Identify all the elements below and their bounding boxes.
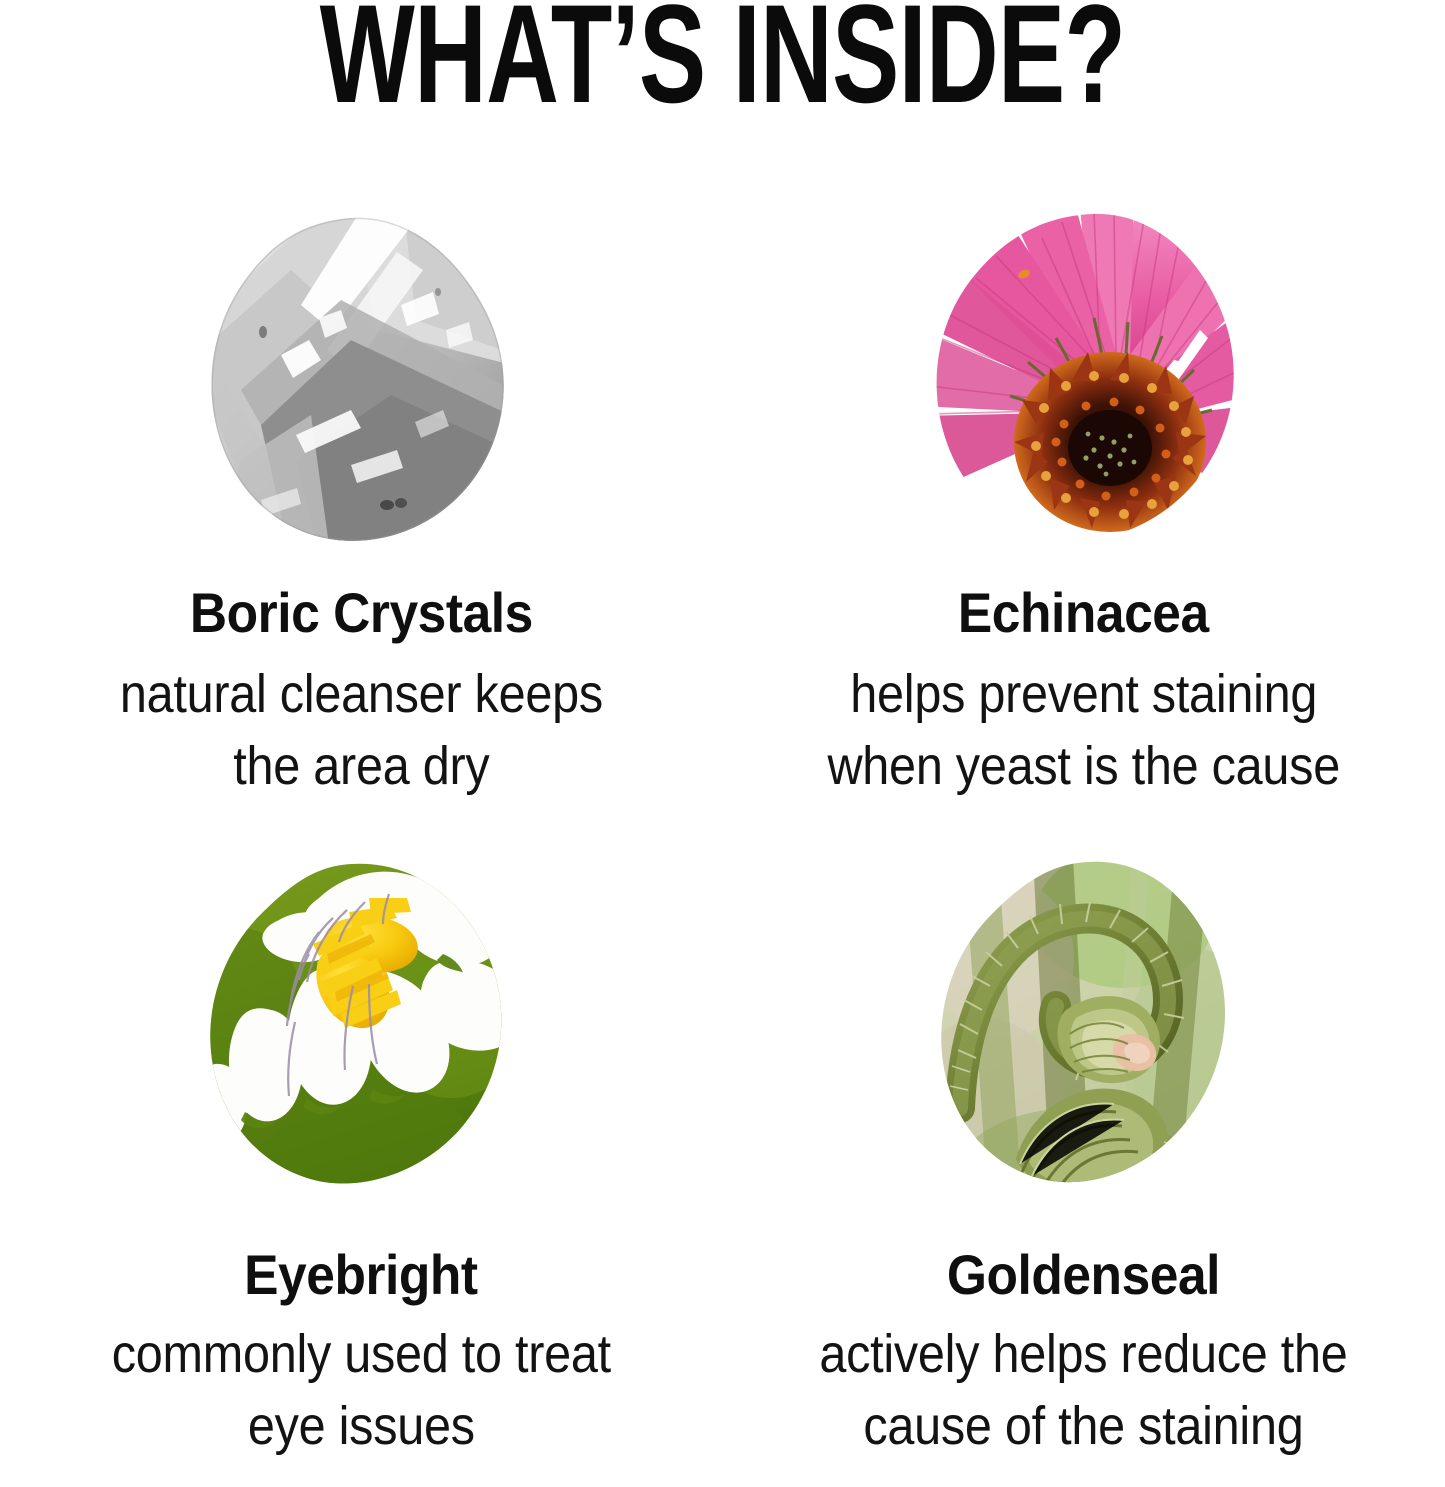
page-title: WHAT’S INSIDE? [202, 0, 1242, 124]
echinacea-flower-photo [924, 210, 1244, 550]
ingredient-card-boric-crystals: Boric Crystals natural cleanser keeps th… [0, 170, 722, 830]
ingredient-description: commonly used to treat eye issues [111, 1318, 610, 1462]
ingredient-card-goldenseal: Goldenseal actively helps reduce the cau… [722, 830, 1445, 1487]
ingredient-card-eyebright: Eyebright commonly used to treat eye iss… [0, 830, 722, 1487]
ingredient-grid: Boric Crystals natural cleanser keeps th… [0, 170, 1445, 1487]
goldenseal-plant-photo [924, 858, 1244, 1198]
ingredient-name: Eyebright [244, 1246, 477, 1304]
whats-inside-infographic: WHAT’S INSIDE? [0, 0, 1445, 1487]
ingredient-description: helps prevent staining when yeast is the… [827, 658, 1339, 802]
eyebright-flower-photo [201, 858, 521, 1198]
ingredient-name: Echinacea [958, 584, 1209, 642]
ingredient-description: actively helps reduce the cause of the s… [819, 1318, 1347, 1462]
ingredient-description: natural cleanser keeps the area dry [119, 658, 602, 802]
ingredient-name: Goldenseal [947, 1246, 1220, 1304]
ingredient-card-echinacea: Echinacea helps prevent staining when ye… [722, 170, 1445, 830]
ingredient-name: Boric Crystals [190, 584, 533, 642]
boric-crystal-photo [201, 210, 521, 550]
